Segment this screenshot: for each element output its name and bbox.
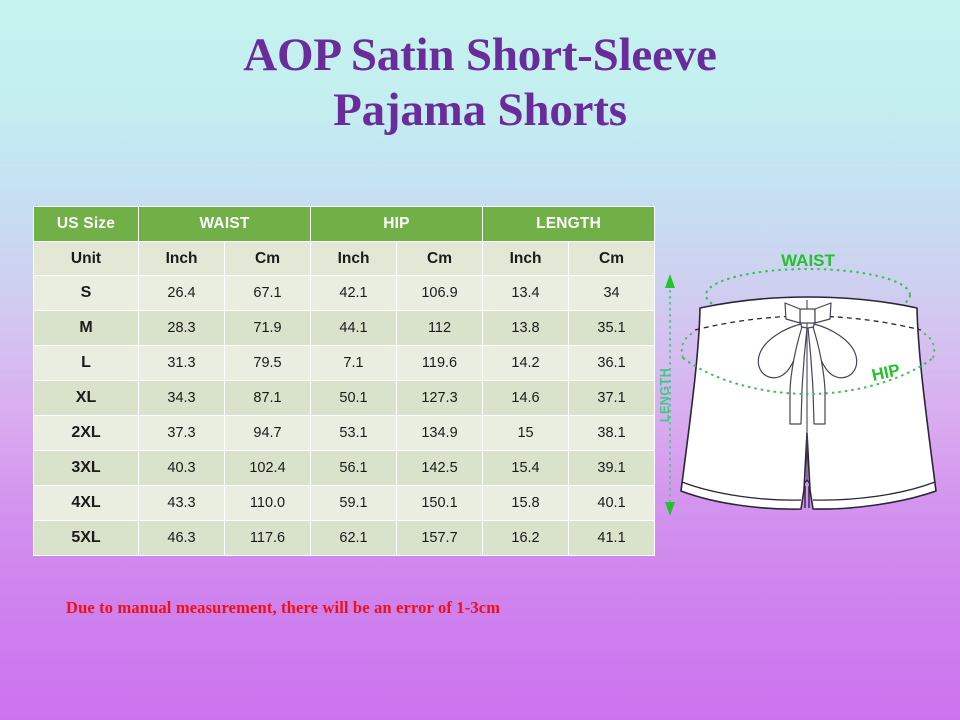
unit-header-length-cm: Cm	[569, 242, 654, 275]
size-table-body: S 26.4 67.1 42.1 106.9 13.4 34 M 28.3 71…	[34, 276, 654, 555]
row-hip-cm: 106.9	[397, 276, 482, 310]
table-row: 2XL 37.3 94.7 53.1 134.9 15 38.1	[34, 416, 654, 450]
table-row: XL 34.3 87.1 50.1 127.3 14.6 37.1	[34, 381, 654, 415]
unit-header-label: Unit	[34, 242, 138, 275]
row-hip-inch: 56.1	[311, 451, 396, 485]
row-waist-inch: 46.3	[139, 521, 224, 555]
row-waist-inch: 31.3	[139, 346, 224, 380]
unit-header-waist-cm: Cm	[225, 242, 310, 275]
row-hip-inch: 44.1	[311, 311, 396, 345]
row-waist-inch: 34.3	[139, 381, 224, 415]
shorts-diagram: WAIST HIP LENGTH	[655, 248, 960, 543]
waist-label: WAIST	[781, 251, 835, 270]
row-size: S	[34, 276, 138, 310]
row-hip-cm: 134.9	[397, 416, 482, 450]
row-hip-inch: 62.1	[311, 521, 396, 555]
row-length-inch: 15.4	[483, 451, 568, 485]
table-row: 4XL 43.3 110.0 59.1 150.1 15.8 40.1	[34, 486, 654, 520]
page-title-line-2: Pajama Shorts	[0, 83, 960, 138]
row-length-inch: 15	[483, 416, 568, 450]
row-length-cm: 38.1	[569, 416, 654, 450]
group-header-length: LENGTH	[483, 207, 654, 241]
row-hip-inch: 53.1	[311, 416, 396, 450]
row-waist-inch: 26.4	[139, 276, 224, 310]
row-length-inch: 13.8	[483, 311, 568, 345]
row-size: XL	[34, 381, 138, 415]
row-waist-inch: 37.3	[139, 416, 224, 450]
unit-header-hip-cm: Cm	[397, 242, 482, 275]
row-hip-inch: 42.1	[311, 276, 396, 310]
row-size: 4XL	[34, 486, 138, 520]
unit-header-length-inch: Inch	[483, 242, 568, 275]
measurement-disclaimer: Due to manual measurement, there will be…	[66, 598, 500, 618]
row-hip-cm: 157.7	[397, 521, 482, 555]
row-hip-cm: 119.6	[397, 346, 482, 380]
row-size: 2XL	[34, 416, 138, 450]
table-row: M 28.3 71.9 44.1 112 13.8 35.1	[34, 311, 654, 345]
size-table: US Size WAIST HIP LENGTH Unit Inch Cm In…	[33, 206, 655, 556]
row-hip-inch: 59.1	[311, 486, 396, 520]
row-size: 3XL	[34, 451, 138, 485]
row-length-inch: 16.2	[483, 521, 568, 555]
unit-header-waist-inch: Inch	[139, 242, 224, 275]
row-length-cm: 41.1	[569, 521, 654, 555]
page-title-line-1: AOP Satin Short-Sleeve	[0, 28, 960, 83]
group-header-waist: WAIST	[139, 207, 310, 241]
row-waist-cm: 71.9	[225, 311, 310, 345]
row-size: L	[34, 346, 138, 380]
group-header-hip: HIP	[311, 207, 482, 241]
row-waist-inch: 43.3	[139, 486, 224, 520]
row-length-inch: 14.6	[483, 381, 568, 415]
row-length-cm: 39.1	[569, 451, 654, 485]
row-waist-cm: 87.1	[225, 381, 310, 415]
row-waist-cm: 79.5	[225, 346, 310, 380]
row-length-cm: 37.1	[569, 381, 654, 415]
row-waist-cm: 94.7	[225, 416, 310, 450]
row-waist-cm: 110.0	[225, 486, 310, 520]
page-title: AOP Satin Short-Sleeve Pajama Shorts	[0, 28, 960, 138]
row-hip-cm: 127.3	[397, 381, 482, 415]
row-waist-inch: 40.3	[139, 451, 224, 485]
row-size: 5XL	[34, 521, 138, 555]
unit-header-row: Unit Inch Cm Inch Cm Inch Cm	[34, 242, 654, 275]
row-hip-cm: 142.5	[397, 451, 482, 485]
row-waist-inch: 28.3	[139, 311, 224, 345]
row-hip-cm: 150.1	[397, 486, 482, 520]
row-hip-cm: 112	[397, 311, 482, 345]
row-hip-inch: 7.1	[311, 346, 396, 380]
row-length-cm: 34	[569, 276, 654, 310]
size-table-container: US Size WAIST HIP LENGTH Unit Inch Cm In…	[33, 206, 651, 556]
size-table-head: US Size WAIST HIP LENGTH Unit Inch Cm In…	[34, 207, 654, 275]
table-row: 5XL 46.3 117.6 62.1 157.7 16.2 41.1	[34, 521, 654, 555]
row-length-inch: 14.2	[483, 346, 568, 380]
row-size: M	[34, 311, 138, 345]
group-header-row: US Size WAIST HIP LENGTH	[34, 207, 654, 241]
length-label: LENGTH	[658, 368, 672, 422]
row-waist-cm: 102.4	[225, 451, 310, 485]
size-chart-page: AOP Satin Short-Sleeve Pajama Shorts US …	[0, 0, 960, 720]
group-header-us-size: US Size	[34, 207, 138, 241]
unit-header-hip-inch: Inch	[311, 242, 396, 275]
shorts-illustration	[681, 297, 936, 509]
table-row: S 26.4 67.1 42.1 106.9 13.4 34	[34, 276, 654, 310]
row-length-cm: 36.1	[569, 346, 654, 380]
row-hip-inch: 50.1	[311, 381, 396, 415]
row-length-inch: 13.4	[483, 276, 568, 310]
table-row: 3XL 40.3 102.4 56.1 142.5 15.4 39.1	[34, 451, 654, 485]
table-row: L 31.3 79.5 7.1 119.6 14.2 36.1	[34, 346, 654, 380]
row-length-cm: 40.1	[569, 486, 654, 520]
row-waist-cm: 117.6	[225, 521, 310, 555]
row-length-inch: 15.8	[483, 486, 568, 520]
row-waist-cm: 67.1	[225, 276, 310, 310]
row-length-cm: 35.1	[569, 311, 654, 345]
